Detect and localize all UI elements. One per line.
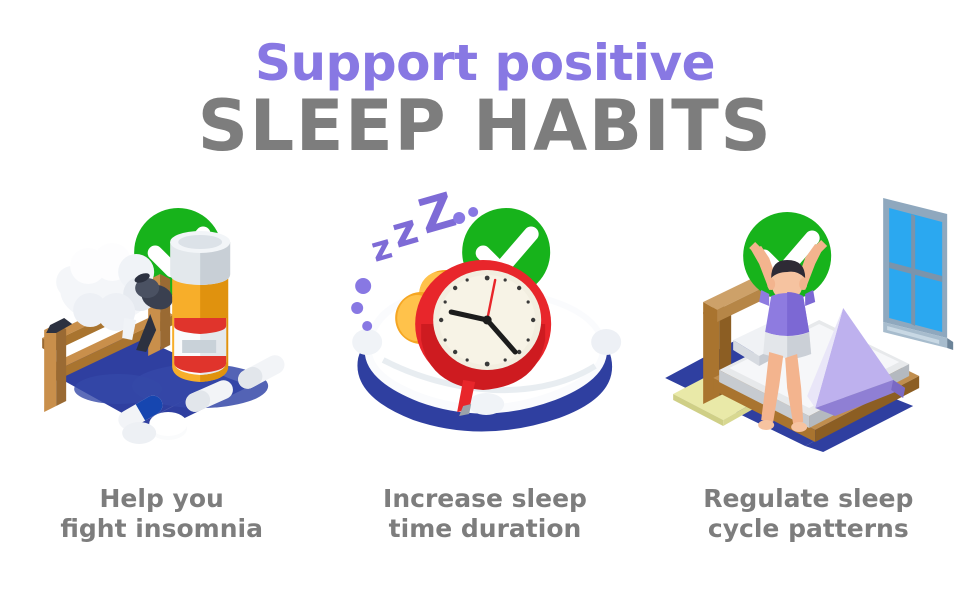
window-shape xyxy=(883,198,953,350)
title-line-1: Support positive xyxy=(0,36,970,90)
panel-row: Help you fight insomnia xyxy=(0,190,970,550)
caption-cycle: Regulate sleep cycle patterns xyxy=(647,484,970,544)
caption-duration: Increase sleep time duration xyxy=(323,484,646,544)
illustration-sheep-fence-pills xyxy=(0,190,323,460)
title-line-2: SLEEP HABITS xyxy=(0,90,970,162)
panel-duration: z z Z xyxy=(323,190,646,550)
panel-cycle: Regulate sleep cycle patterns xyxy=(647,190,970,550)
pill-bottle-shape xyxy=(170,231,230,382)
illustration-alarm-clock-pillow: z z Z xyxy=(323,190,646,460)
caption-insomnia: Help you fight insomnia xyxy=(0,484,323,544)
page-title: Support positive SLEEP HABITS xyxy=(0,36,970,162)
infographic-root: Support positive SLEEP HABITS xyxy=(0,0,970,600)
illustration-person-bed-window xyxy=(647,190,970,460)
panel-insomnia: Help you fight insomnia xyxy=(0,190,323,550)
